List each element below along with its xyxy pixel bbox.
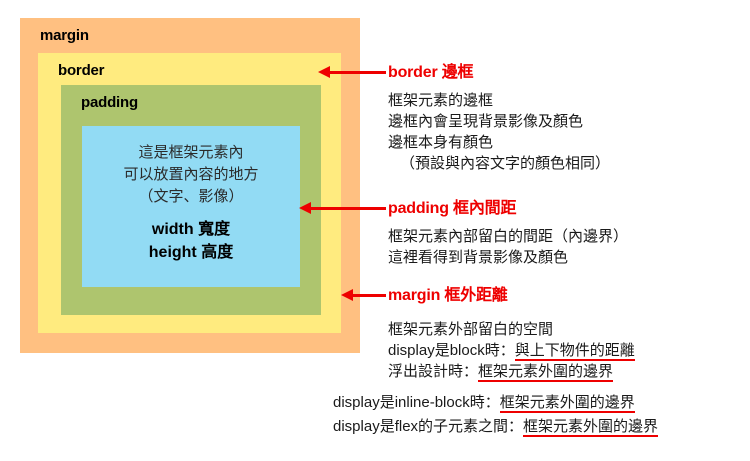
- annotation-line: 邊框本身有顏色: [388, 132, 610, 153]
- content-text-line: 可以放置內容的地方: [123, 164, 258, 186]
- content-text-line: （文字、影像）: [138, 186, 243, 208]
- annotation-line-plain: display是inline-block時：: [333, 394, 500, 411]
- content-width-label: width 寬度: [152, 218, 230, 241]
- content-text-line: 這是框架元素內: [138, 142, 243, 164]
- annotation-border: border 邊框 框架元素的邊框 邊框內會呈現背景影像及顏色 邊框本身有顏色 …: [388, 58, 610, 174]
- margin-layer: margin border padding 這是框架元素內 可以放置內容的地方 …: [20, 18, 360, 353]
- annotation-line-emphasis: 框架元素外圍的邊界: [523, 418, 658, 437]
- box-model-diagram: margin border padding 這是框架元素內 可以放置內容的地方 …: [20, 18, 360, 353]
- annotation-line: 框架元素內部留白的間距（內邊界）: [388, 226, 628, 247]
- annotation-padding-title: padding 框內間距: [388, 194, 628, 218]
- annotation-line-plain: display是flex的子元素之間：: [333, 418, 523, 435]
- annotation-line: 這裡看得到背景影像及顏色: [388, 247, 628, 268]
- annotation-line: 框架元素的邊框: [388, 90, 610, 111]
- annotation-line-plain: 浮出設計時：: [388, 363, 478, 380]
- annotation-line-underlined: 浮出設計時：框架元素外圍的邊界: [388, 361, 635, 382]
- annotation-line-emphasis: 框架元素外圍的邊界: [500, 394, 635, 413]
- annotation-line: 框架元素外部留白的空間: [388, 319, 635, 340]
- padding-layer-label: padding: [81, 94, 138, 111]
- content-layer: 這是框架元素內 可以放置內容的地方 （文字、影像） width 寬度 heigh…: [82, 126, 300, 287]
- annotation-line-plain: display是block時：: [388, 342, 515, 359]
- border-layer: border padding 這是框架元素內 可以放置內容的地方 （文字、影像）…: [38, 53, 341, 333]
- annotation-margin: margin 框外距離 框架元素外部留白的空間 display是block時：與…: [388, 281, 635, 382]
- annotation-border-title: border 邊框: [388, 58, 610, 82]
- annotation-padding-body: 框架元素內部留白的間距（內邊界） 這裡看得到背景影像及顏色: [388, 226, 628, 268]
- border-layer-label: border: [58, 62, 104, 79]
- annotation-line-underlined: display是flex的子元素之間：框架元素外圍的邊界: [333, 415, 658, 439]
- annotation-line-underlined: display是block時：與上下物件的距離: [388, 340, 635, 361]
- annotation-line-emphasis: 與上下物件的距離: [515, 342, 635, 361]
- content-height-label: height 高度: [149, 241, 233, 264]
- annotation-padding: padding 框內間距 框架元素內部留白的間距（內邊界） 這裡看得到背景影像及…: [388, 194, 628, 268]
- annotation-margin-title: margin 框外距離: [388, 281, 635, 305]
- annotation-line: 邊框內會呈現背景影像及顏色: [388, 111, 610, 132]
- annotation-margin-body: 框架元素外部留白的空間 display是block時：與上下物件的距離 浮出設計…: [388, 319, 635, 382]
- margin-layer-label: margin: [40, 27, 89, 44]
- padding-layer: padding 這是框架元素內 可以放置內容的地方 （文字、影像） width …: [61, 85, 321, 315]
- annotation-line: （預設與內容文字的顏色相同）: [388, 153, 610, 174]
- annotation-line-underlined: display是inline-block時：框架元素外圍的邊界: [333, 391, 658, 415]
- extra-notes: display是inline-block時：框架元素外圍的邊界 display是…: [333, 391, 658, 439]
- annotation-border-body: 框架元素的邊框 邊框內會呈現背景影像及顏色 邊框本身有顏色 （預設與內容文字的顏…: [388, 90, 610, 174]
- annotation-line-emphasis: 框架元素外圍的邊界: [478, 363, 613, 382]
